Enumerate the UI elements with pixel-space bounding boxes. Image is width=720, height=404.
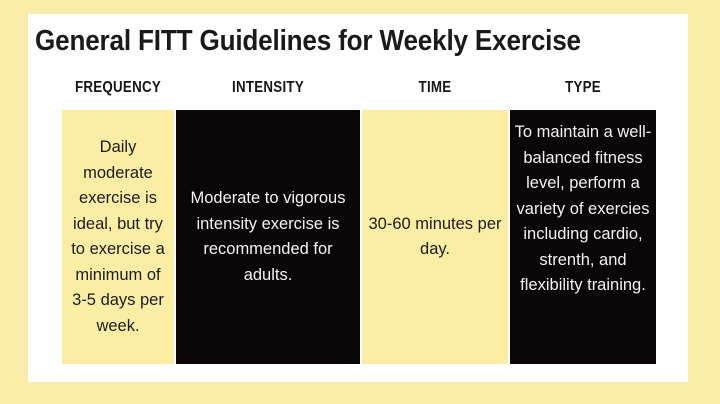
column-header-intensity: INTENSITY <box>189 78 347 104</box>
column-text-time: 30-60 minutes per day. <box>366 212 504 263</box>
page-title: General FITT Guidelines for Weekly Exerc… <box>35 24 611 58</box>
content-card: General FITT Guidelines for Weekly Exerc… <box>28 14 688 382</box>
poster-canvas: General FITT Guidelines for Weekly Exerc… <box>0 0 720 404</box>
column-body-row: Daily moderate exercise is ideal, but tr… <box>62 110 656 364</box>
column-panel-intensity: Moderate to vigorous intensity exercise … <box>176 110 360 364</box>
column-text-intensity: Moderate to vigorous intensity exercise … <box>180 186 356 288</box>
column-panel-time: 30-60 minutes per day. <box>362 110 508 364</box>
column-header-type: TYPE <box>520 78 646 104</box>
column-header-frequency: FREQUENCY <box>70 78 166 104</box>
column-header-time: TIME <box>372 78 498 104</box>
column-text-type: To maintain a well-balanced fitness leve… <box>514 120 652 299</box>
column-panel-type: To maintain a well-balanced fitness leve… <box>510 110 656 364</box>
column-text-frequency: Daily moderate exercise is ideal, but tr… <box>66 135 170 339</box>
column-panel-frequency: Daily moderate exercise is ideal, but tr… <box>62 110 174 364</box>
column-header-row: FREQUENCY INTENSITY TIME TYPE <box>62 78 656 104</box>
